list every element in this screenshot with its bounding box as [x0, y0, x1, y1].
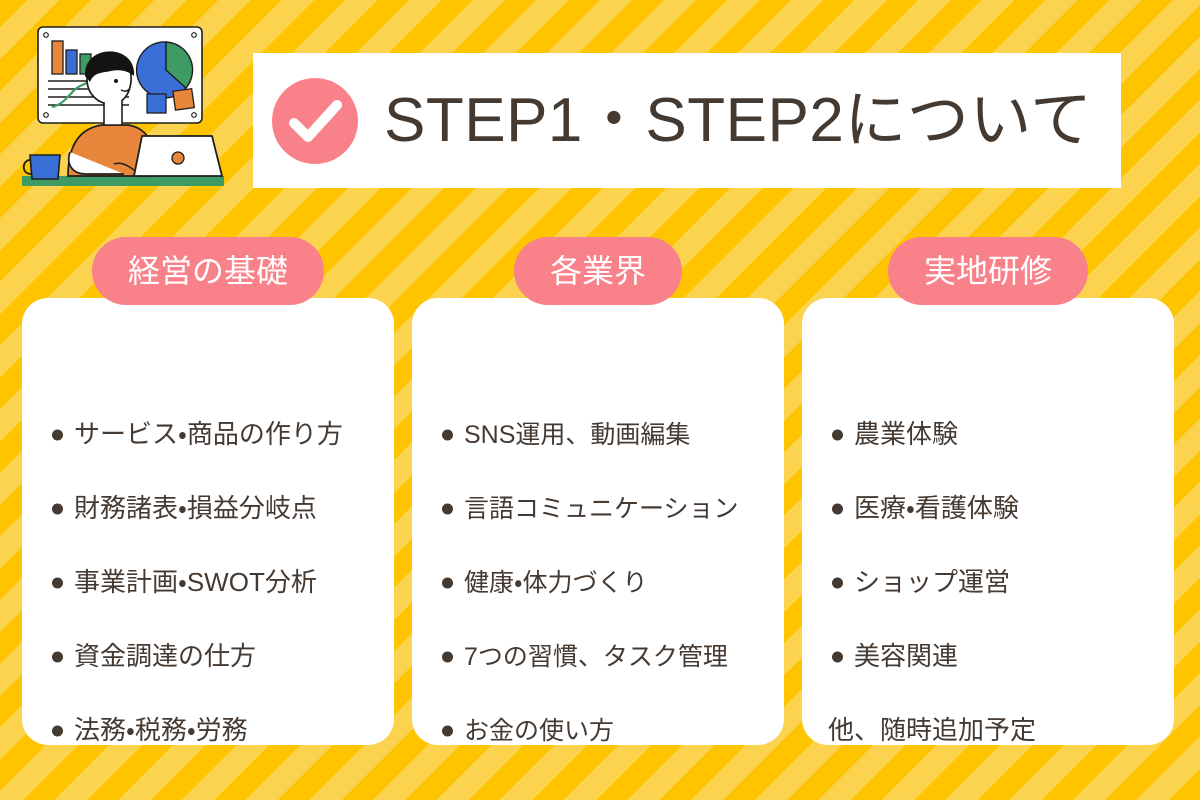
list-item-label: 他、随時追加予定: [828, 715, 1036, 746]
list-item-label: 健康・体力づくり: [464, 568, 648, 598]
category-column-gyokai: 各業界 SNS運用、動画編集 言語コミュニケーション 健康・体力づくり 7つの習…: [412, 237, 784, 747]
list-item: 資金調達の仕方: [22, 620, 394, 694]
category-item-list: 農業体験 医療・看護体験 ショップ運営 美容関連 他、随時追加予定: [802, 298, 1174, 745]
list-item: お金の使い方: [412, 694, 784, 768]
list-item: SNS運用、動画編集: [412, 398, 784, 472]
check-circle-icon: [272, 78, 358, 164]
list-item-label: お金の使い方: [464, 716, 614, 746]
person-at-laptop-with-charts-illustration: [16, 24, 230, 190]
category-column-jitchi: 実地研修 農業体験 医療・看護体験 ショップ運営 美容関連 他、随時追加予定: [802, 237, 1174, 747]
list-item: 事業計画・SWOT分析: [22, 546, 394, 620]
list-item: 健康・体力づくり: [412, 546, 784, 620]
list-item-label: 資金調達の仕方: [74, 641, 256, 672]
category-item-list: SNS運用、動画編集 言語コミュニケーション 健康・体力づくり 7つの習慣、タス…: [412, 298, 784, 745]
list-item: 財務諸表・損益分岐点: [22, 472, 394, 546]
list-item-label: 美容関連: [854, 641, 958, 672]
list-item-label: 医療・看護体験: [854, 493, 1019, 524]
list-item: 7つの習慣、タスク管理: [412, 620, 784, 694]
category-heading-pill: 経営の基礎: [92, 237, 324, 305]
list-item: 法務・税務・労務: [22, 694, 394, 768]
category-heading-pill: 実地研修: [888, 237, 1088, 305]
list-item-label: サービス・商品の作り方: [74, 419, 343, 450]
list-item: 美容関連: [802, 620, 1174, 694]
category-columns: 経営の基礎 サービス・商品の作り方 財務諸表・損益分岐点 事業計画・SWOT分析…: [0, 237, 1200, 757]
list-item-label: 財務諸表・損益分岐点: [74, 493, 317, 524]
list-item: 農業体験: [802, 398, 1174, 472]
list-item: ショップ運営: [802, 546, 1174, 620]
list-item-label: 農業体験: [854, 419, 958, 450]
list-item: 医療・看護体験: [802, 472, 1174, 546]
list-item-label: 7つの習慣、タスク管理: [464, 642, 728, 672]
category-heading-pill: 各業界: [514, 237, 682, 305]
list-item: 言語コミュニケーション: [412, 472, 784, 546]
page-title: STEP1・STEP2について: [384, 88, 1092, 153]
list-item-note: 他、随時追加予定: [802, 694, 1174, 768]
category-column-keiei: 経営の基礎 サービス・商品の作り方 財務諸表・損益分岐点 事業計画・SWOT分析…: [22, 237, 394, 747]
list-item-label: 法務・税務・労務: [74, 715, 248, 746]
list-item-label: 事業計画・SWOT分析: [74, 567, 317, 598]
category-item-list: サービス・商品の作り方 財務諸表・損益分岐点 事業計画・SWOT分析 資金調達の…: [22, 298, 394, 745]
title-banner: STEP1・STEP2について: [253, 53, 1121, 188]
list-item: サービス・商品の作り方: [22, 398, 394, 472]
list-item-label: 言語コミュニケーション: [464, 494, 739, 524]
list-item-label: SNS運用、動画編集: [464, 420, 690, 450]
slide-canvas: STEP1・STEP2について 経営の基礎 サービス・商品の作り方 財務諸表・損…: [0, 0, 1200, 800]
list-item-label: ショップ運営: [854, 567, 1010, 598]
